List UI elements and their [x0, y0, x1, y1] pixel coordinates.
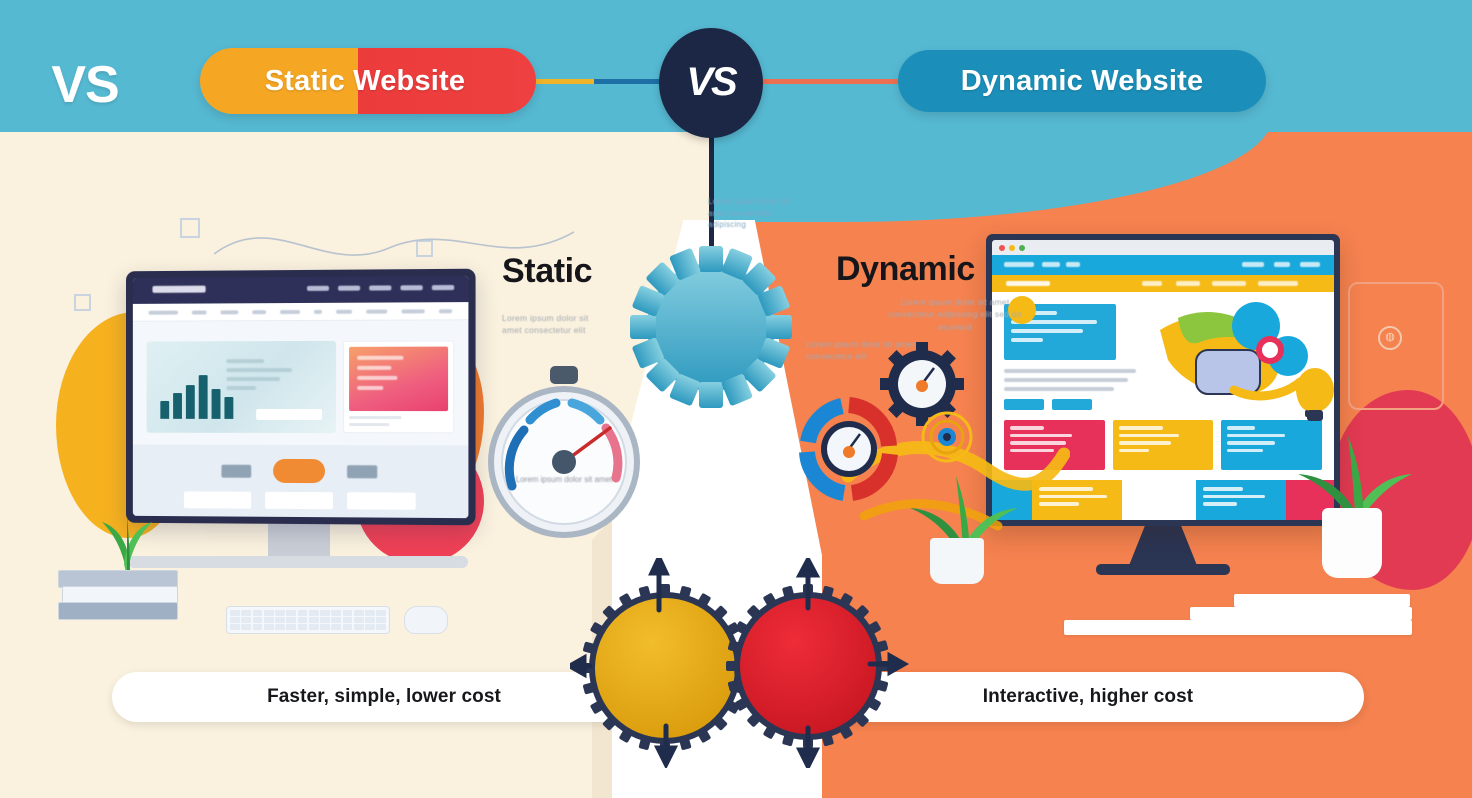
left-monitor-screen — [133, 276, 469, 518]
books-stack-right — [1064, 594, 1414, 640]
node-dot-icon: ◍ — [1378, 326, 1402, 350]
left-monitor-neck — [268, 524, 330, 560]
dynamic-section-subtext: Lorem ipsum dolor sit amet consectetur a… — [884, 296, 1026, 333]
interlocking-gears-icon — [570, 558, 910, 768]
left-monitor — [126, 269, 476, 526]
mock-side-textlines — [349, 416, 448, 426]
mock-site-logo — [152, 286, 205, 293]
plant-left-icon — [96, 512, 158, 576]
planter-center — [930, 538, 984, 584]
connector-line-coral — [752, 79, 908, 84]
stem-caption-text: Lorem ipsum dolor sit amet consectetur a… — [708, 196, 804, 231]
right-monitor-base — [1096, 564, 1230, 575]
mock-site-side-panel — [343, 340, 454, 433]
outline-square-icon — [180, 218, 200, 238]
donut-chart-icon — [796, 396, 902, 502]
mock-site-footer — [133, 445, 469, 519]
mock-hero-textlines — [226, 359, 322, 395]
mock-site-navbar — [133, 302, 469, 322]
left-monitor-base — [128, 556, 468, 568]
browser-chrome-bar — [992, 240, 1334, 255]
keyboard-icon — [226, 606, 390, 634]
static-website-pill[interactable]: Static Website — [200, 48, 536, 114]
vs-badge-label: VS — [686, 60, 735, 105]
mock-hero-button — [256, 409, 322, 420]
dynamic-website-pill[interactable]: Dynamic Website — [898, 50, 1266, 112]
dynamic-gauge-caption: Lorem ipsum dolor sit amet consectetur e… — [806, 338, 918, 363]
browser-close-dot — [999, 245, 1005, 251]
planter-right — [1322, 508, 1382, 578]
outline-square-icon — [74, 294, 91, 311]
dynamic-hero-textlines — [1004, 369, 1142, 391]
lightbulb-icon — [1292, 364, 1338, 426]
left-summary-text: Faster, simple, lower cost — [267, 686, 501, 708]
mock-footer-badge — [273, 459, 325, 483]
connector-line-yellow — [534, 79, 596, 84]
stopwatch-caption-text: Lorem ipsum dolor sit amet — [506, 474, 622, 485]
vs-badge-circle: VS — [659, 28, 763, 138]
mouse-icon — [404, 606, 448, 634]
dynamic-site-navbar — [992, 275, 1334, 292]
mock-site-hero-panel — [147, 341, 336, 433]
stopwatch-gauge-icon — [482, 358, 646, 544]
center-vs-gear-icon — [626, 242, 796, 412]
browser-minimize-dot — [1009, 245, 1015, 251]
mock-site-topnav — [307, 285, 454, 291]
static-section-heading: Static — [502, 252, 592, 291]
browser-maximize-dot — [1019, 245, 1025, 251]
mock-site-hero — [133, 320, 469, 433]
center-vs-gear-label: VS — [0, 0, 170, 170]
infographic-canvas: ◍ Static Website Dynamic Website VS Lore… — [0, 0, 1472, 798]
right-summary-text: Interactive, higher cost — [983, 686, 1193, 708]
mock-bar-chart — [160, 375, 233, 419]
swirl-target-icon — [920, 410, 974, 464]
dynamic-website-pill-label: Dynamic Website — [961, 65, 1204, 98]
dynamic-site-topbar — [992, 255, 1334, 275]
static-section-subtext: Lorem ipsum dolor sit amet consectetur e… — [502, 312, 606, 337]
books-stack-left — [58, 570, 184, 632]
mock-footer-cards — [133, 491, 469, 510]
static-website-pill-label: Static Website — [265, 65, 466, 98]
mock-side-card — [349, 347, 448, 412]
mock-site-topbar — [133, 276, 469, 304]
dynamic-card-yellow — [1113, 420, 1214, 470]
dynamic-section-heading: Dynamic — [836, 250, 975, 289]
